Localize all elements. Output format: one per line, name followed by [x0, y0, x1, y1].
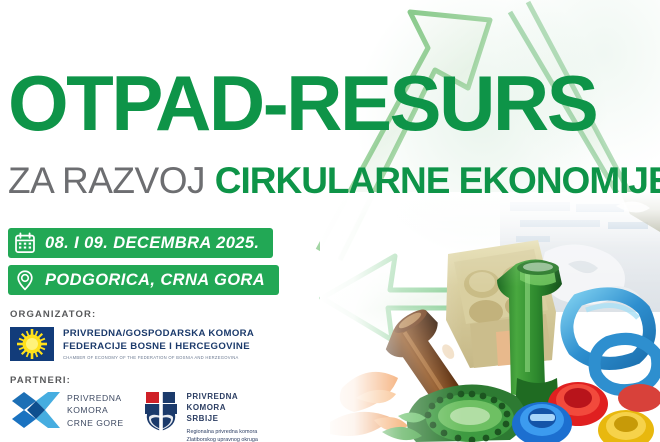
- partner-serbia-line2: KOMORA: [187, 403, 258, 414]
- organizer-name-subtitle: CHAMBER OF ECONOMY OF THE FEDERATION OF …: [63, 355, 254, 360]
- sun-emblem-icon: [10, 327, 54, 361]
- location-badge: PODGORICA, CRNA GORA: [8, 265, 279, 295]
- partner-serbia: PRIVREDNA KOMORA SRBIJE Regionalna privr…: [142, 390, 258, 442]
- subtitle-light-part: ZA RAZVOJ: [8, 160, 215, 201]
- recyclable-materials-photo: [320, 192, 660, 442]
- calendar-icon: [14, 232, 36, 254]
- partner-montenegro-line2: KOMORA: [67, 404, 124, 416]
- event-info-badges: 08. I 09. DECEMBRA 2025. PODGORICA, CRNA…: [8, 228, 279, 302]
- organizer-block: PRIVREDNA/GOSPODARSKA KOMORA FEDERACIJE …: [10, 327, 254, 361]
- partner-serbia-text: PRIVREDNA KOMORA SRBIJE Regionalna privr…: [187, 390, 258, 442]
- page-subtitle: ZA RAZVOJ CIRKULARNE EKONOMIJE: [8, 162, 660, 199]
- partner-montenegro: PRIVREDNA KOMORA CRNE GORE: [12, 390, 124, 430]
- partner-montenegro-line3: CRNE GORE: [67, 417, 124, 429]
- partners-block: PRIVREDNA KOMORA CRNE GORE PRIVREDNA KOM…: [12, 390, 276, 442]
- subtitle-bold-part: CIRKULARNE EKONOMIJE: [215, 160, 660, 201]
- organizer-name-line1: PRIVREDNA/GOSPODARSKA KOMORA: [63, 328, 254, 341]
- organizer-names: PRIVREDNA/GOSPODARSKA KOMORA FEDERACIJE …: [63, 327, 254, 360]
- organizer-name-line2: FEDERACIJE BOSNE I HERCEGOVINE: [63, 341, 254, 354]
- partner-serbia-line1: PRIVREDNA: [187, 392, 258, 403]
- location-badge-label: PODGORICA, CRNA GORA: [45, 271, 265, 290]
- partner-serbia-sub1: Regionalna privredna komora: [187, 429, 258, 437]
- partner-serbia-sub2: Zlatiborskog upravnog okruga: [187, 437, 258, 442]
- page-title: OTPAD-RESURS: [8, 68, 596, 140]
- partner-serbia-line3: SRBIJE: [187, 414, 258, 425]
- partners-label: PARTNERI:: [10, 375, 71, 386]
- partner-montenegro-text: PRIVREDNA KOMORA CRNE GORE: [67, 390, 124, 429]
- date-badge: 08. I 09. DECEMBRA 2025.: [8, 228, 273, 258]
- serbia-chamber-shield-icon: [142, 390, 180, 432]
- montenegro-chamber-diamond-icon: [12, 390, 60, 430]
- date-badge-label: 08. I 09. DECEMBRA 2025.: [45, 234, 259, 253]
- location-pin-icon: [14, 269, 36, 291]
- organizer-label: ORGANIZATOR:: [10, 309, 96, 320]
- partner-montenegro-line1: PRIVREDNA: [67, 392, 124, 404]
- event-poster: OTPAD-RESURS ZA RAZVOJ CIRKULARNE EKONOM…: [0, 0, 660, 442]
